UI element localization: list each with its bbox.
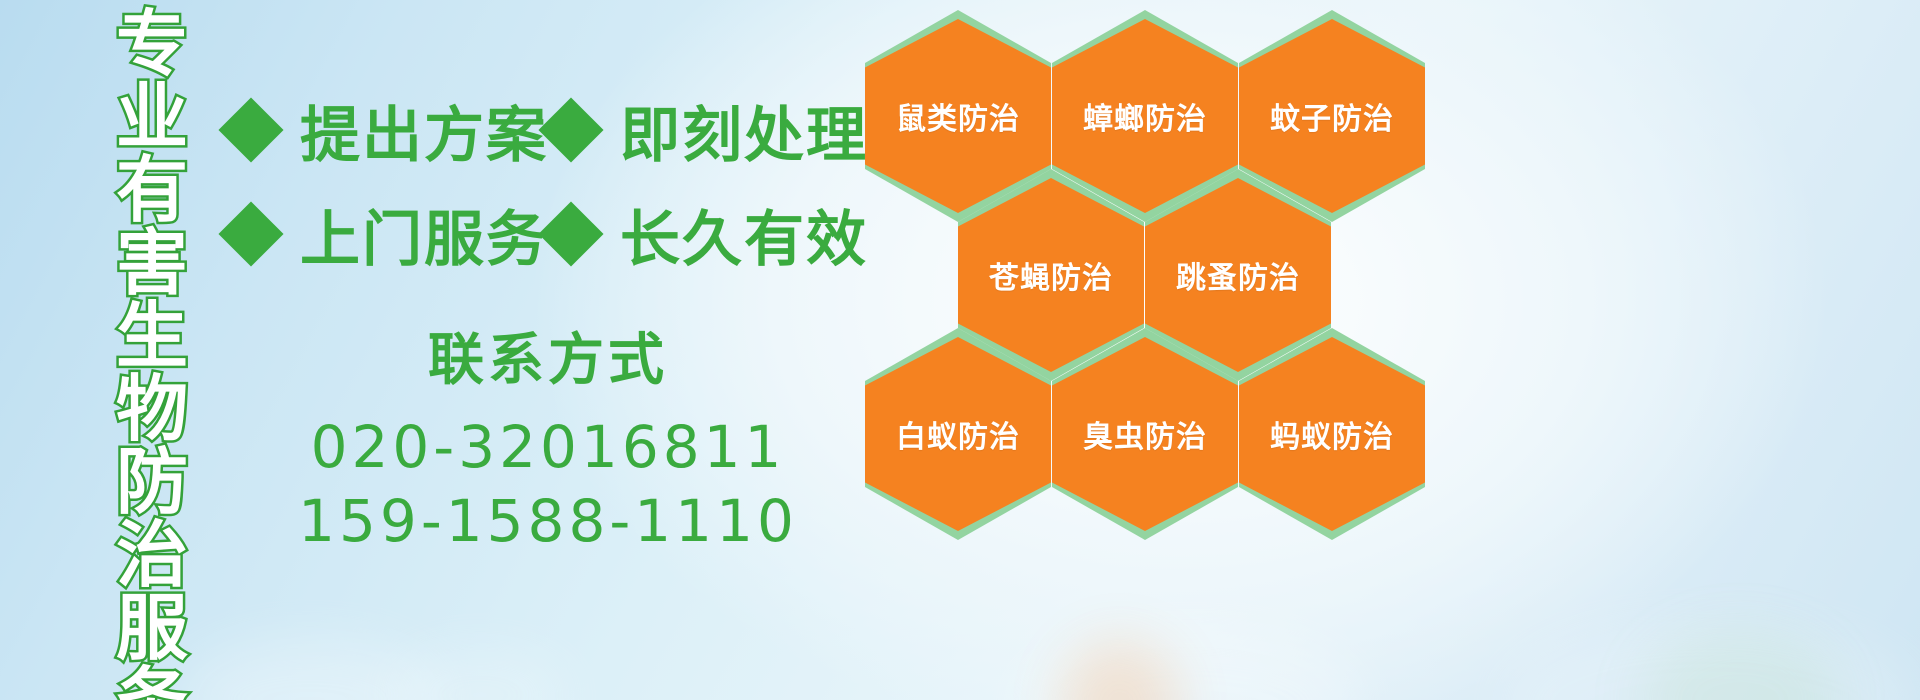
- vertical-headline-char: 专: [116, 8, 188, 81]
- service-label: 跳蚤防治: [1176, 253, 1300, 297]
- vertical-headline-char: 物: [116, 373, 188, 446]
- service-label: 臭虫防治: [1083, 412, 1207, 456]
- pest-control-banner: 专 业 有 害 生 物 防 治 服 务 提出方案 即刻处理 上门服务: [0, 0, 1920, 700]
- contact-phone-mobile[interactable]: 159-1588-1110: [228, 484, 868, 558]
- feature-list: 提出方案 即刻处理 上门服务 长久有效: [228, 78, 868, 286]
- background-blur-shape: [390, 650, 570, 700]
- feature-item-immediate-handling: 即刻处理: [548, 87, 868, 174]
- hexagon-inner: 白蚁防治: [865, 337, 1051, 531]
- contact-phone-landline[interactable]: 020-32016811: [228, 410, 868, 484]
- diamond-bullet-icon: [538, 201, 603, 266]
- hexagon-inner: 蟑螂防治: [1052, 19, 1238, 213]
- feature-item-onsite-service: 上门服务: [228, 191, 548, 278]
- background-blur-shape: [180, 640, 440, 700]
- vertical-headline-char: 生: [116, 300, 188, 373]
- diamond-bullet-icon: [218, 97, 283, 162]
- hexagon-inner: 蚊子防治: [1239, 19, 1425, 213]
- feature-label: 上门服务: [300, 191, 548, 278]
- contact-block: 联系方式 020-32016811 159-1588-1110: [228, 315, 868, 558]
- vertical-headline: 专 业 有 害 生 物 防 治 服 务: [104, 8, 200, 678]
- hexagon-inner: 臭虫防治: [1052, 337, 1238, 531]
- vertical-headline-char: 治: [116, 519, 188, 592]
- background-blur-shape: [1500, 620, 1920, 700]
- hexagon-inner: 苍蝇防治: [958, 178, 1144, 372]
- service-label: 蚂蚁防治: [1270, 412, 1394, 456]
- hexagon-inner: 跳蚤防治: [1145, 178, 1331, 372]
- feature-row: 提出方案 即刻处理: [228, 78, 868, 182]
- hexagon-inner: 鼠类防治: [865, 19, 1051, 213]
- feature-row: 上门服务 长久有效: [228, 182, 868, 286]
- background-blur-shape: [1640, 630, 1840, 700]
- service-label: 苍蝇防治: [989, 253, 1113, 297]
- hexagon-inner: 蚂蚁防治: [1239, 337, 1425, 531]
- service-label: 蚊子防治: [1270, 94, 1394, 138]
- vertical-headline-char: 害: [116, 227, 188, 300]
- feature-label: 即刻处理: [620, 87, 868, 174]
- feature-label: 长久有效: [620, 191, 868, 278]
- diamond-bullet-icon: [218, 201, 283, 266]
- vertical-headline-char: 有: [116, 154, 188, 227]
- service-label: 蟑螂防治: [1083, 94, 1207, 138]
- feature-item-propose-plan: 提出方案: [228, 87, 548, 174]
- service-label: 鼠类防治: [896, 94, 1020, 138]
- service-hexagon-grid: 鼠类防治 蟑螂防治 蚊子防治 苍蝇防治 跳蚤防治 白蚁防治: [855, 0, 1455, 700]
- service-label: 白蚁防治: [896, 412, 1020, 456]
- vertical-headline-char: 务: [116, 665, 188, 700]
- vertical-headline-char: 服: [116, 592, 188, 665]
- diamond-bullet-icon: [538, 97, 603, 162]
- feature-label: 提出方案: [300, 87, 548, 174]
- feature-item-long-lasting: 长久有效: [548, 191, 868, 278]
- vertical-headline-char: 业: [116, 81, 188, 154]
- vertical-headline-char: 防: [116, 446, 188, 519]
- contact-title: 联系方式: [228, 315, 868, 396]
